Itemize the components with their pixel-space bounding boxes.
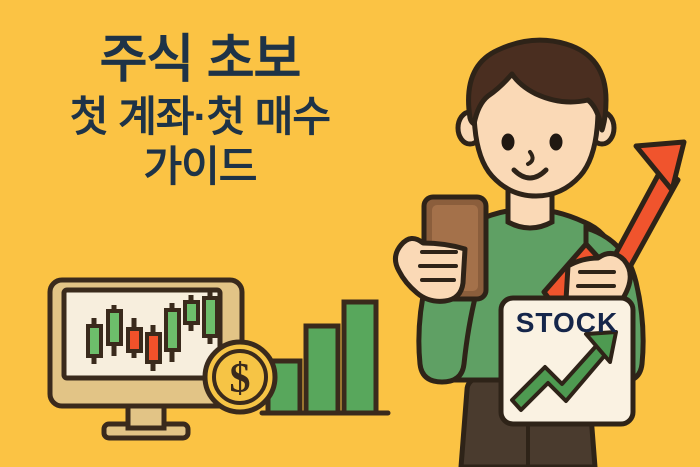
thumbnail-canvas: $ 주식 초보 첫 계좌·첫 매수 가이드 STOCK — [0, 0, 700, 467]
stock-sign — [501, 298, 633, 424]
bar-3 — [344, 302, 376, 413]
dollar-coin: $ — [205, 342, 275, 412]
illustration-scene: $ — [0, 0, 700, 467]
right-eye — [550, 134, 563, 151]
bar-2 — [306, 326, 338, 413]
left-eye — [502, 134, 515, 151]
coin-dollar-sign: $ — [230, 356, 251, 402]
